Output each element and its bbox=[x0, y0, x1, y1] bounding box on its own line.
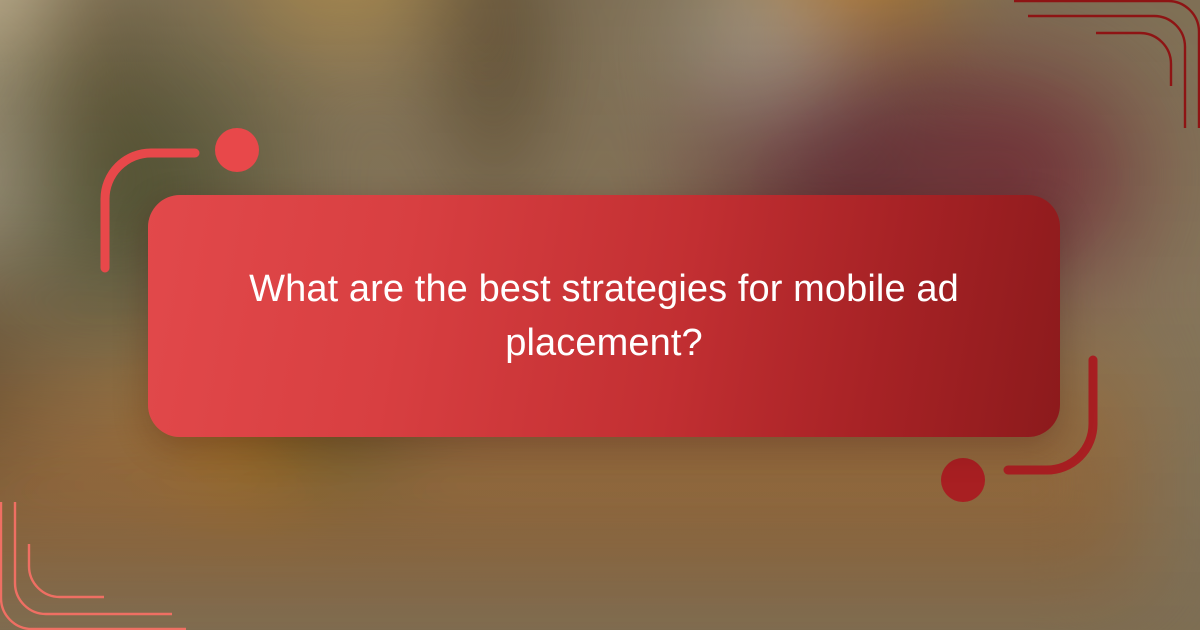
question-card: What are the best strategies for mobile … bbox=[148, 195, 1060, 437]
social-card-canvas: What are the best strategies for mobile … bbox=[0, 0, 1200, 630]
question-text: What are the best strategies for mobile … bbox=[234, 262, 974, 370]
